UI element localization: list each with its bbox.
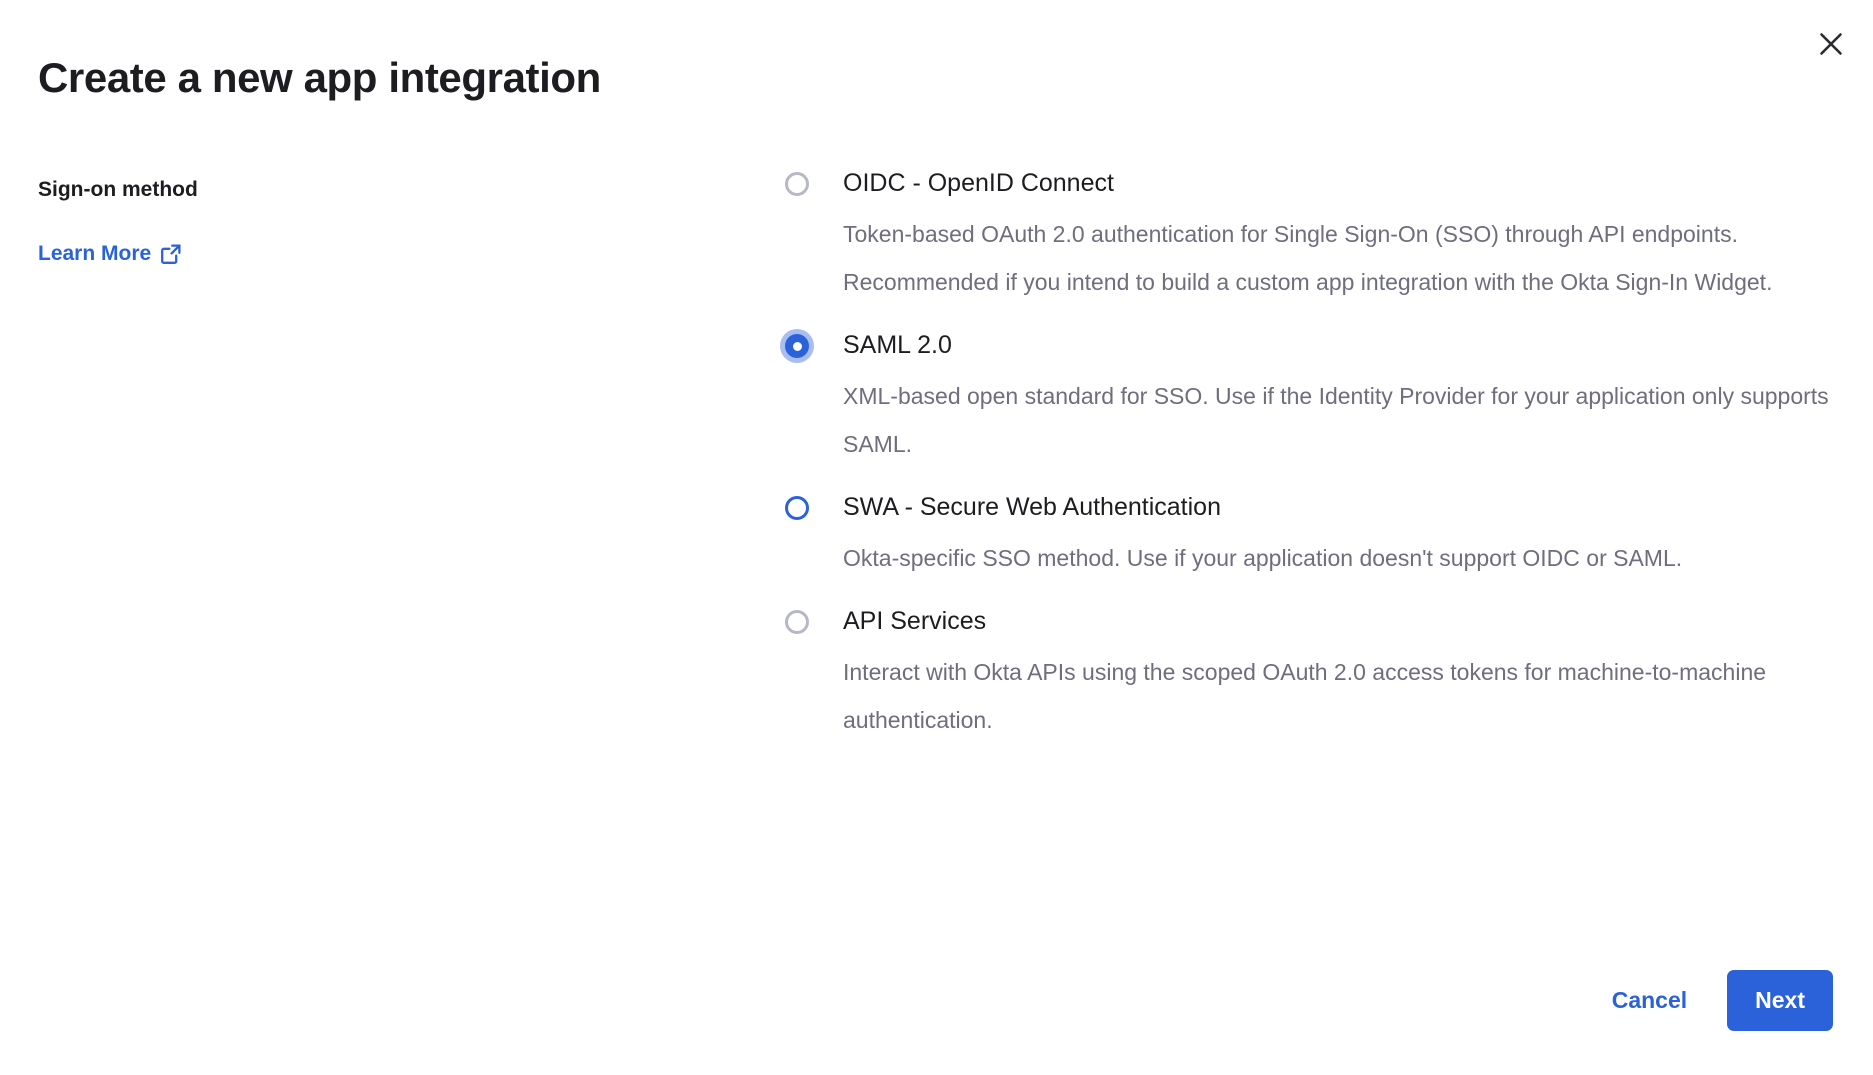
option-swa[interactable]: SWA - Secure Web Authentication Okta-spe…: [775, 490, 1833, 582]
next-button[interactable]: Next: [1727, 970, 1833, 1031]
radio-oidc[interactable]: [785, 172, 809, 196]
option-saml[interactable]: SAML 2.0 XML-based open standard for SSO…: [775, 328, 1833, 468]
close-icon: [1818, 31, 1844, 57]
dialog-footer: Cancel Next: [1608, 970, 1833, 1031]
sign-on-method-label: Sign-on method: [38, 176, 598, 204]
radio-swa[interactable]: [785, 496, 809, 520]
create-app-integration-dialog: Create a new app integration Sign-on met…: [0, 0, 1873, 1075]
option-swa-description: Okta-specific SSO method. Use if your ap…: [843, 534, 1833, 582]
option-saml-label: SAML 2.0: [843, 328, 1833, 362]
cancel-button[interactable]: Cancel: [1608, 977, 1691, 1024]
option-oidc-description: Token-based OAuth 2.0 authentication for…: [843, 210, 1833, 306]
external-link-icon: [160, 243, 182, 265]
learn-more-label: Learn More: [38, 240, 151, 268]
option-api-services-description: Interact with Okta APIs using the scoped…: [843, 648, 1833, 744]
option-oidc[interactable]: OIDC - OpenID Connect Token-based OAuth …: [775, 166, 1833, 306]
option-swa-label: SWA - Secure Web Authentication: [843, 490, 1833, 524]
close-dialog-button[interactable]: [1809, 22, 1853, 66]
option-oidc-label: OIDC - OpenID Connect: [843, 166, 1833, 200]
option-api-services-label: API Services: [843, 604, 1833, 638]
learn-more-link[interactable]: Learn More: [38, 240, 182, 268]
sign-on-method-radio-group: OIDC - OpenID Connect Token-based OAuth …: [775, 166, 1833, 744]
radio-api-services[interactable]: [785, 610, 809, 634]
option-api-services[interactable]: API Services Interact with Okta APIs usi…: [775, 604, 1833, 744]
radio-saml[interactable]: [785, 334, 809, 358]
page-title: Create a new app integration: [38, 52, 601, 104]
sign-on-method-panel: Sign-on method Learn More: [38, 176, 598, 268]
option-saml-description: XML-based open standard for SSO. Use if …: [843, 372, 1833, 468]
